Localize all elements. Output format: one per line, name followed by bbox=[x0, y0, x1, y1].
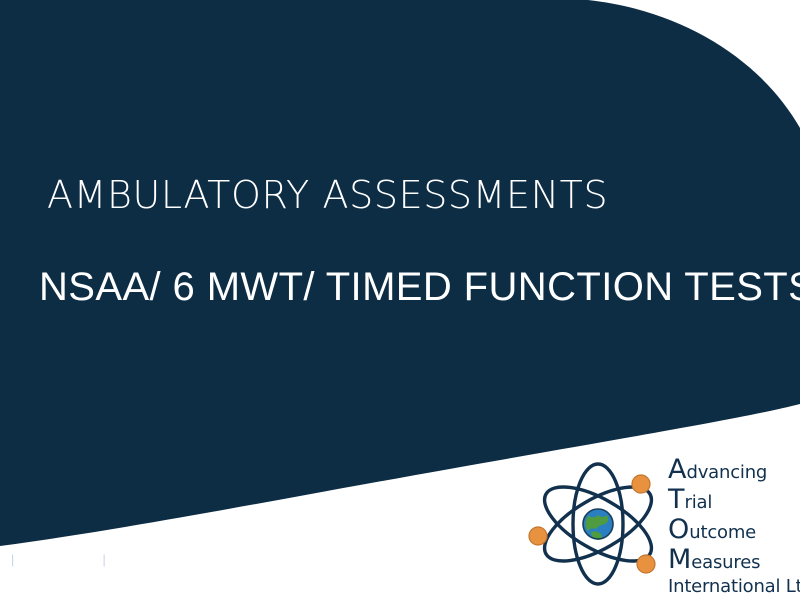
logo-line-outcome: Outcome bbox=[668, 516, 756, 543]
logo-acronym-text: Advancing Trial Outcome Measures Interna… bbox=[668, 452, 800, 601]
footer-event: KOL Lunch on DMD bbox=[108, 553, 227, 567]
logo-rest-outcome: utcome bbox=[689, 522, 756, 543]
logo-tagline: International Ltd bbox=[668, 578, 800, 596]
footer-company: Capricor, Inc. bbox=[16, 553, 97, 567]
logo-cap-a: A bbox=[668, 454, 686, 485]
logo-line-trial: Trial bbox=[668, 486, 712, 513]
logo-rest-advancing: dvancing bbox=[686, 462, 767, 483]
logo-cap-o: O bbox=[668, 514, 689, 545]
atom-globe-icon bbox=[528, 458, 668, 590]
logo-cap-m: M bbox=[668, 544, 691, 575]
logo-rest-measures: easures bbox=[691, 552, 760, 573]
logo-rest-trial: rial bbox=[685, 492, 713, 513]
logo-cap-t: T bbox=[668, 484, 685, 515]
slide-footer: |Capricor, Inc. |KOL Lunch on DMD bbox=[9, 553, 227, 567]
presentation-slide: AMBULATORY ASSESSMENTS NSAA/ 6 MWT/ TIME… bbox=[0, 0, 800, 601]
atom-international-logo: Advancing Trial Outcome Measures Interna… bbox=[528, 452, 800, 601]
logo-line-advancing: Advancing bbox=[668, 456, 767, 483]
globe-icon bbox=[583, 509, 613, 540]
logo-line-measures: Measures bbox=[668, 546, 760, 573]
footer-separator-2: | bbox=[101, 553, 108, 567]
